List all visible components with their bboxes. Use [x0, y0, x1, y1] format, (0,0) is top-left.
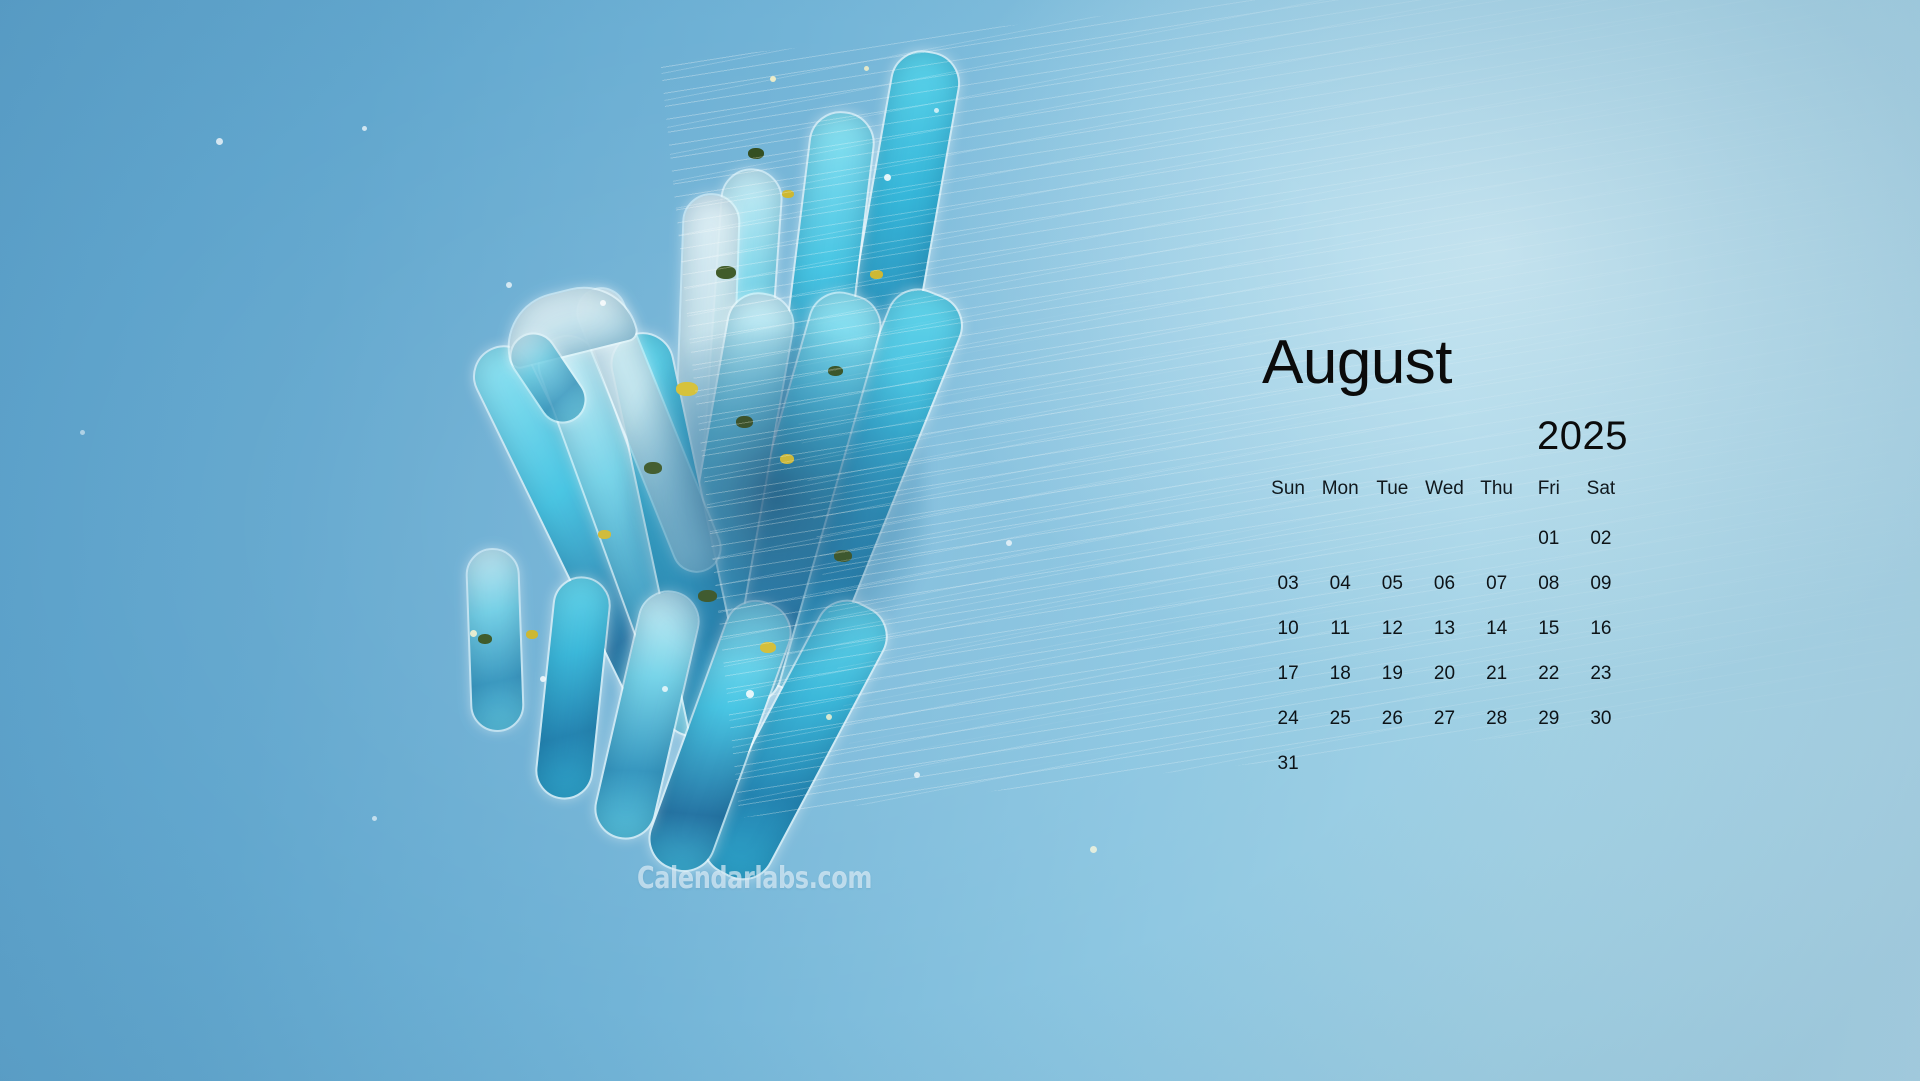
calendar-day-cell: 07 — [1471, 561, 1523, 606]
calendar-day-cell: 28 — [1471, 696, 1523, 741]
calendar-day-cell — [1262, 516, 1314, 561]
calendar-day-cell: 18 — [1314, 651, 1366, 696]
calendar-day-cell: 11 — [1314, 606, 1366, 651]
calendar-day-cell — [1314, 516, 1366, 561]
weekday-tue: Tue — [1366, 478, 1418, 516]
calendar-week-row: 03 04 05 06 07 08 09 — [1262, 561, 1627, 606]
calendar-year-label: 2025 — [1262, 416, 1682, 456]
wallpaper-canvas: August 2025 Sun Mon Tue Wed Thu Fri Sat — [0, 0, 1920, 1081]
calendar-week-row: 24 25 26 27 28 29 30 — [1262, 696, 1627, 741]
calendar-weekday-header-row: Sun Mon Tue Wed Thu Fri Sat — [1262, 478, 1627, 516]
calendar-day-cell: 26 — [1366, 696, 1418, 741]
calendar-day-cell — [1471, 516, 1523, 561]
calendar-day-cell: 23 — [1575, 651, 1627, 696]
calendar-week-row: 31 — [1262, 741, 1627, 786]
fleck — [748, 148, 764, 159]
calendar-day-cell — [1471, 741, 1523, 786]
abstract-ribbon-sculpture — [430, 30, 1050, 860]
calendar-day-cell: 27 — [1418, 696, 1470, 741]
calendar-day-cell — [1575, 741, 1627, 786]
calendar-day-cell: 12 — [1366, 606, 1418, 651]
calendar-day-cell: 05 — [1366, 561, 1418, 606]
calendar-day-cell: 17 — [1262, 651, 1314, 696]
calendar-day-cell: 31 — [1262, 741, 1314, 786]
calendar-week-row: 10 11 12 13 14 15 16 — [1262, 606, 1627, 651]
calendar-day-cell — [1418, 516, 1470, 561]
weekday-sun: Sun — [1262, 478, 1314, 516]
particle — [1090, 846, 1097, 853]
calendar-day-cell — [1366, 516, 1418, 561]
weekday-mon: Mon — [1314, 478, 1366, 516]
weekday-fri: Fri — [1523, 478, 1575, 516]
weekday-sat: Sat — [1575, 478, 1627, 516]
particle — [362, 126, 367, 131]
calendar-day-cell: 03 — [1262, 561, 1314, 606]
fleck — [526, 630, 538, 639]
particle — [216, 138, 223, 145]
calendar-day-cell: 16 — [1575, 606, 1627, 651]
ribbon-core-shadow — [626, 330, 926, 660]
calendar-day-cell: 22 — [1523, 651, 1575, 696]
calendar-day-cell: 25 — [1314, 696, 1366, 741]
calendar-month-title: August — [1262, 332, 1682, 394]
calendar-day-cell: 08 — [1523, 561, 1575, 606]
calendar-day-cell: 09 — [1575, 561, 1627, 606]
calendar-day-cell — [1366, 741, 1418, 786]
calendar-week-row: 17 18 19 20 21 22 23 — [1262, 651, 1627, 696]
fleck — [782, 190, 794, 198]
calendar-grid: Sun Mon Tue Wed Thu Fri Sat 01 02 — [1262, 478, 1627, 786]
calendar-day-cell: 19 — [1366, 651, 1418, 696]
calendar-day-cell — [1418, 741, 1470, 786]
calendar-day-cell: 13 — [1418, 606, 1470, 651]
site-watermark: Calendarlabs.com — [637, 861, 872, 896]
ribbon-15 — [535, 576, 612, 800]
ribbon-16 — [467, 549, 523, 731]
calendar-day-cell: 20 — [1418, 651, 1470, 696]
calendar-day-cell: 01 — [1523, 516, 1575, 561]
calendar-day-cell: 29 — [1523, 696, 1575, 741]
calendar-day-cell — [1314, 741, 1366, 786]
calendar-block: August 2025 Sun Mon Tue Wed Thu Fri Sat — [1262, 332, 1682, 786]
calendar-day-cell: 10 — [1262, 606, 1314, 651]
particle — [372, 816, 377, 821]
calendar-day-cell: 14 — [1471, 606, 1523, 651]
calendar-day-cell — [1523, 741, 1575, 786]
calendar-day-cell: 02 — [1575, 516, 1627, 561]
particle — [80, 430, 85, 435]
calendar-week-row: 01 02 — [1262, 516, 1627, 561]
calendar-day-cell: 30 — [1575, 696, 1627, 741]
weekday-wed: Wed — [1418, 478, 1470, 516]
weekday-thu: Thu — [1471, 478, 1523, 516]
calendar-day-cell: 06 — [1418, 561, 1470, 606]
calendar-day-cell: 04 — [1314, 561, 1366, 606]
calendar-day-cell: 15 — [1523, 606, 1575, 651]
calendar-day-cell: 24 — [1262, 696, 1314, 741]
calendar-day-cell: 21 — [1471, 651, 1523, 696]
